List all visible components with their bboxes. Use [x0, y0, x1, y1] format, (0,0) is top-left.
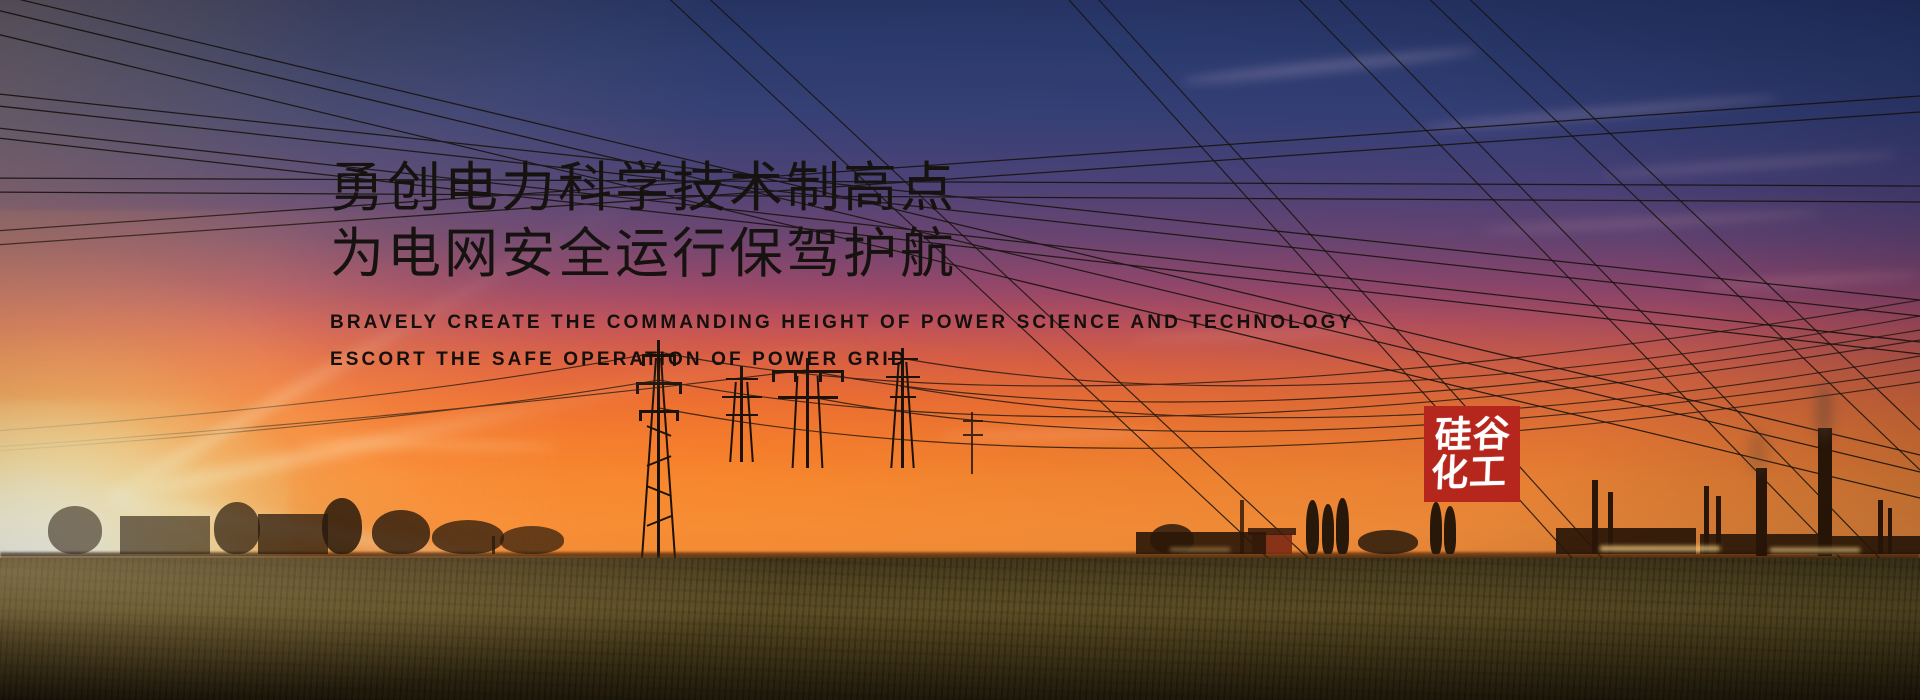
tree-silhouette — [48, 506, 102, 554]
hero-banner: 勇创电力科学技术制高点 为电网安全运行保驾护航 BRAVELY CREATE T… — [0, 0, 1920, 700]
tree-silhouette — [322, 498, 362, 554]
poplar-tree — [1444, 506, 1456, 554]
chimney — [1240, 500, 1244, 554]
smoke-plume — [1816, 384, 1832, 440]
smoke-plume — [1748, 430, 1768, 474]
chimney — [1704, 486, 1709, 554]
headline-line-2: 为电网安全运行保驾护航 — [330, 224, 1510, 284]
plant-light — [1600, 546, 1720, 551]
chimney — [1878, 500, 1883, 554]
headline-line-1: 勇创电力科学技术制高点 — [330, 158, 1510, 218]
poplar-tree — [1430, 502, 1442, 554]
poplar-tree — [1336, 498, 1349, 554]
chimney — [1826, 428, 1832, 556]
tree-silhouette — [214, 502, 260, 554]
banner-copy: 勇创电力科学技术制高点 为电网安全运行保驾护航 BRAVELY CREATE T… — [330, 158, 1510, 371]
company-logo-stamp[interactable]: 硅谷 化工 — [1424, 406, 1520, 502]
farm-building — [258, 514, 328, 554]
fence-post — [492, 536, 495, 554]
tree-silhouette — [372, 510, 430, 554]
plant-light — [1770, 548, 1860, 552]
logo-line-2: 化工 — [1428, 452, 1510, 494]
plant-light — [1170, 548, 1230, 551]
chimney — [1608, 492, 1613, 554]
tree-silhouette — [1358, 530, 1418, 554]
chimney — [1592, 480, 1598, 554]
poplar-tree — [1322, 504, 1334, 554]
tree-silhouette — [500, 526, 564, 554]
subhead-line-1: BRAVELY CREATE THE COMMANDING HEIGHT OF … — [330, 312, 1510, 334]
logo-text: 硅谷 化工 — [1432, 414, 1512, 494]
poplar-tree — [1306, 500, 1319, 554]
cooling-tower — [1756, 468, 1767, 556]
chimney — [1888, 508, 1892, 554]
farm-building — [120, 516, 210, 554]
subhead-line-2: ESCORT THE SAFE OPERATION OF POWER GRID — [330, 349, 1510, 371]
field-shadow — [0, 556, 1920, 700]
